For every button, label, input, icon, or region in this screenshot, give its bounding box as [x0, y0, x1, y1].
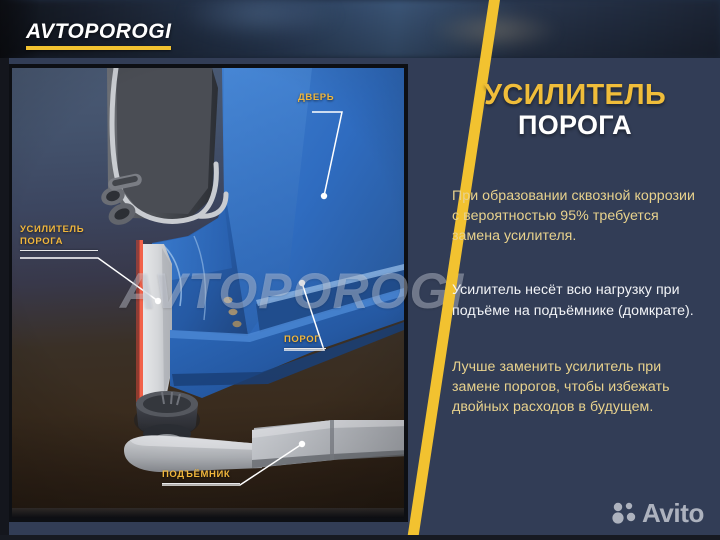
callout-sill-reinforcement: УСИЛИТЕЛЬ ПОРОГА — [20, 224, 100, 251]
callout-lift-label: ПОДЪЁМНИК — [162, 469, 242, 481]
callout-lift: ПОДЪЁМНИК — [162, 469, 242, 484]
callout-sill-reinforcement-rule — [20, 250, 98, 252]
bottom-dark-edge — [0, 535, 720, 540]
brand-logo: AVTOPOROGI — [26, 21, 171, 50]
paragraph-load: Усилитель несёт всю нагрузку при подъёме… — [446, 280, 704, 320]
callout-sill-rule — [284, 348, 326, 350]
callout-leader-lines — [12, 68, 404, 518]
callout-door: ДВЕРЬ — [298, 92, 344, 104]
right-content: УСИЛИТЕЛЬ ПОРОГА При образовании сквозно… — [432, 0, 720, 540]
callout-sill: ПОРОГ — [284, 334, 328, 349]
avito-wordmark: Avito — [642, 500, 704, 526]
leader-reinforcement — [20, 258, 158, 301]
leader-door — [312, 112, 342, 196]
avito-watermark: Avito — [612, 500, 704, 526]
page-title-line2: ПОРОГА — [446, 111, 704, 140]
brand-logo-underline — [26, 46, 171, 50]
infographic-root: AVTOPOROGI — [0, 0, 720, 540]
callout-sill-label: ПОРОГ — [284, 334, 328, 346]
callout-lift-rule — [162, 483, 240, 485]
page-title-line1: УСИЛИТЕЛЬ — [446, 80, 704, 111]
brand-logo-text: AVTOPOROGI — [26, 21, 171, 42]
leader-lift-dot — [299, 441, 305, 447]
callout-sill-reinforcement-label: УСИЛИТЕЛЬ ПОРОГА — [20, 224, 100, 248]
callout-door-label: ДВЕРЬ — [298, 92, 344, 104]
avito-logo-icon — [612, 502, 638, 524]
left-dark-edge — [0, 58, 9, 540]
leader-sill-dot — [299, 280, 305, 286]
paragraph-corrosion: При образовании сквозной коррозии с веро… — [446, 186, 704, 246]
paragraph-advice: Лучше заменить усилитель при замене поро… — [446, 357, 704, 417]
page-title: УСИЛИТЕЛЬ ПОРОГА — [446, 80, 704, 140]
diagram-panel: ДВЕРЬ УСИЛИТЕЛЬ ПОРОГА ПОРОГ ПОДЪЁМНИК — [12, 68, 404, 518]
leader-door-dot — [321, 193, 327, 199]
leader-reinforcement-dot — [155, 298, 161, 304]
